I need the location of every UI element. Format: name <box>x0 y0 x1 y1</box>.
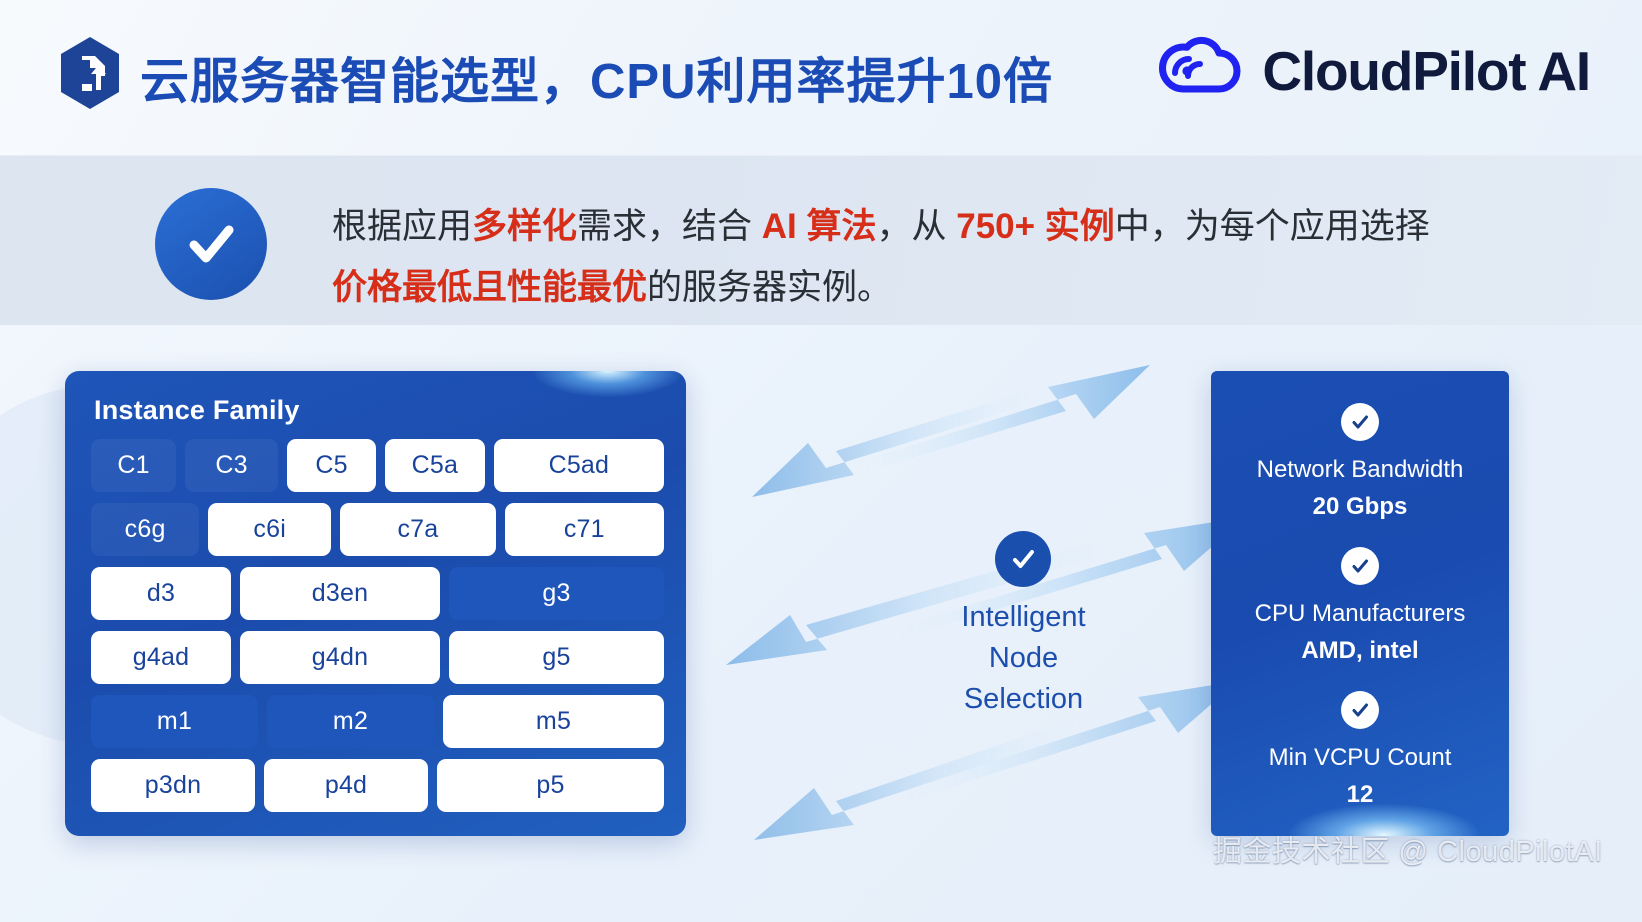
instance-tag-c6i[interactable]: c6i <box>208 503 331 556</box>
summary-plain: 根据应用 <box>332 207 472 246</box>
instance-tag-d3[interactable]: d3 <box>91 567 231 620</box>
instance-tag-c5ad[interactable]: C5ad <box>494 439 664 492</box>
instance-tag-row: p3dnp4dp5 <box>91 759 664 812</box>
summary-plain: 需求，结合 <box>577 207 762 246</box>
cloud-gauge-icon <box>1157 33 1245 108</box>
spec-item: CPU ManufacturersAMD, intel <box>1211 547 1509 665</box>
spec-item-value: 12 <box>1211 781 1509 809</box>
instance-tag-g4dn[interactable]: g4dn <box>240 631 440 684</box>
instance-tag-g3[interactable]: g3 <box>449 567 664 620</box>
summary-plain: 中，为每个应用选择 <box>1115 207 1430 246</box>
check-circle-icon <box>1341 691 1379 729</box>
instance-tag-c5[interactable]: C5 <box>287 439 376 492</box>
instance-tag-g4ad[interactable]: g4ad <box>91 631 231 684</box>
selected-spec-panel: Network Bandwidth20 GbpsCPU Manufacturer… <box>1211 371 1509 836</box>
check-circle-icon <box>1341 403 1379 441</box>
spec-item: Min VCPU Count12 <box>1211 691 1509 809</box>
summary-text: 根据应用多样化需求，结合 AI 算法，从 750+ 实例中，为每个应用选择价格最… <box>332 196 1442 318</box>
document-upload-hexagon-icon <box>57 36 123 110</box>
instance-tag-d3en[interactable]: d3en <box>240 567 440 620</box>
check-circle-icon <box>155 188 267 300</box>
selection-flow: IntelligentNodeSelection <box>686 325 1216 922</box>
summary-plain: ，从 <box>877 207 957 246</box>
instance-tag-row: g4adg4dng5 <box>91 631 664 684</box>
instance-tag-c7a[interactable]: c7a <box>340 503 495 556</box>
spec-item-value: 20 Gbps <box>1211 493 1509 521</box>
instance-tag-c5a[interactable]: C5a <box>385 439 485 492</box>
summary-highlight: AI 算法 <box>762 207 877 246</box>
spec-item-name: Network Bandwidth <box>1211 455 1509 485</box>
diagram-stage: Instance Family C1C3C5C5aC5adc6gc6ic7ac7… <box>0 325 1642 922</box>
instance-tag-grid: C1C3C5C5aC5adc6gc6ic7ac71d3d3eng3g4adg4d… <box>91 439 664 823</box>
instance-tag-m5[interactable]: m5 <box>443 695 664 748</box>
node-label-line: Node <box>931 638 1116 679</box>
intelligent-node-selection-label: IntelligentNodeSelection <box>931 597 1116 720</box>
instance-tag-c1[interactable]: C1 <box>91 439 176 492</box>
instance-tag-c71[interactable]: c71 <box>505 503 664 556</box>
spec-item: Network Bandwidth20 Gbps <box>1211 403 1509 521</box>
instance-tag-p3dn[interactable]: p3dn <box>91 759 255 812</box>
instance-family-title: Instance Family <box>94 395 300 426</box>
spec-item-name: CPU Manufacturers <box>1211 599 1509 629</box>
instance-tag-c6g[interactable]: c6g <box>91 503 199 556</box>
summary-highlight: 750+ 实例 <box>956 207 1115 246</box>
instance-tag-m1[interactable]: m1 <box>91 695 258 748</box>
node-label-line: Intelligent <box>931 597 1116 638</box>
page-title: 云服务器智能选型，CPU利用率提升10倍 <box>140 42 1053 113</box>
node-label-line: Selection <box>931 679 1116 720</box>
instance-family-panel: Instance Family C1C3C5C5aC5adc6gc6ic7ac7… <box>65 371 686 836</box>
instance-tag-p4d[interactable]: p4d <box>264 759 428 812</box>
spec-item-value: AMD, intel <box>1211 637 1509 665</box>
brand-name: CloudPilot AI <box>1262 39 1590 103</box>
instance-tag-m2[interactable]: m2 <box>267 695 434 748</box>
brand-logo: CloudPilot AI <box>1157 33 1590 108</box>
instance-tag-c3[interactable]: C3 <box>185 439 278 492</box>
summary-plain: 的服务器实例。 <box>647 268 892 307</box>
panel-glow-decoration <box>533 371 683 397</box>
summary-highlight: 价格最低且性能最优 <box>332 268 647 307</box>
instance-tag-g5[interactable]: g5 <box>449 631 664 684</box>
infographic-root: 云服务器智能选型，CPU利用率提升10倍 CloudPilot AI 根据应用多… <box>0 0 1642 922</box>
intelligent-node-check-icon <box>995 531 1051 587</box>
summary-highlight: 多样化 <box>472 207 577 246</box>
check-circle-icon <box>1341 547 1379 585</box>
instance-tag-row: C1C3C5C5aC5ad <box>91 439 664 492</box>
spec-item-name: Min VCPU Count <box>1211 743 1509 773</box>
instance-tag-row: c6gc6ic7ac71 <box>91 503 664 556</box>
instance-tag-p5[interactable]: p5 <box>437 759 664 812</box>
header-bar: 云服务器智能选型，CPU利用率提升10倍 CloudPilot AI <box>0 0 1642 155</box>
instance-tag-row: d3d3eng3 <box>91 567 664 620</box>
instance-tag-row: m1m2m5 <box>91 695 664 748</box>
